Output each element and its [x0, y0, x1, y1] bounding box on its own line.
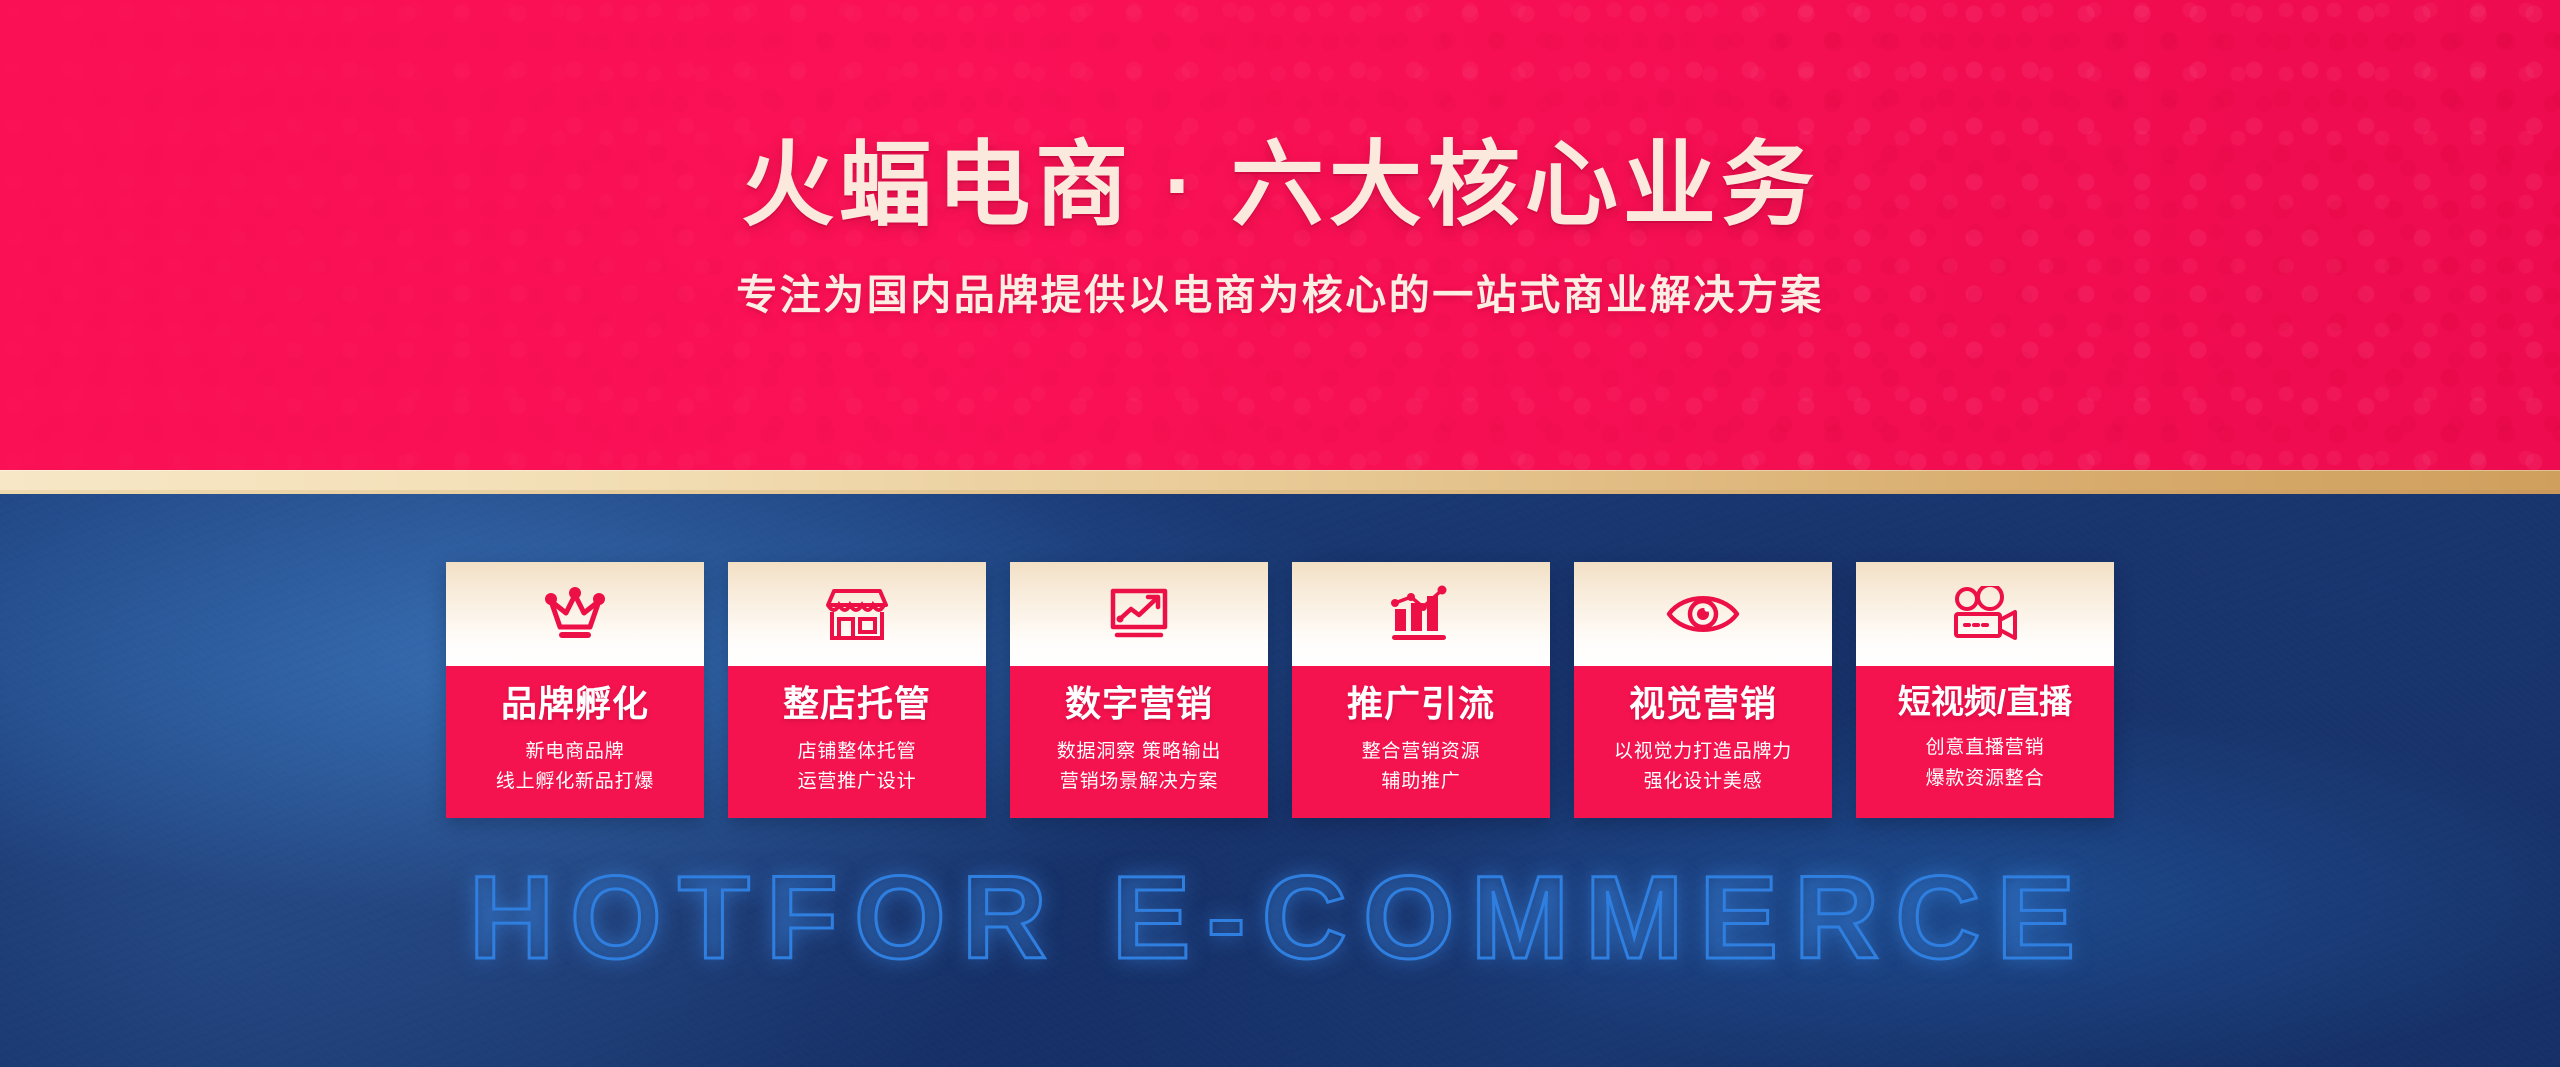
video-camera-icon	[1950, 586, 2020, 642]
card-desc-line: 以视觉力打造品牌力	[1614, 740, 1792, 764]
promo-banner: 火蝠电商 · 六大核心业务 专注为国内品牌提供以电商为核心的一站式商业解决方案 …	[0, 0, 2560, 1067]
card-desc-line: 店铺整体托管	[798, 740, 917, 764]
service-card-digital-marketing[interactable]: 数字营销 数据洞察 策略输出 营销场景解决方案	[1010, 562, 1268, 818]
card-desc-line: 营销场景解决方案	[1060, 770, 1218, 794]
service-card-visual-marketing[interactable]: 视觉营销 以视觉力打造品牌力 强化设计美感	[1574, 562, 1832, 818]
card-desc-line: 线上孵化新品打爆	[496, 770, 654, 794]
service-card-traffic-promotion[interactable]: 推广引流 整合营销资源 辅助推广	[1292, 562, 1550, 818]
card-body: 整店托管 店铺整体托管 运营推广设计	[728, 666, 986, 818]
card-icon-header	[1010, 562, 1268, 666]
bar-chart-icon	[1390, 585, 1452, 643]
services-section: HOTFOR E-COMMERCE 品	[0, 494, 2560, 1067]
card-title: 整店托管	[783, 684, 931, 724]
gold-divider	[0, 470, 2560, 494]
card-title: 推广引流	[1347, 684, 1495, 724]
service-card-list: 品牌孵化 新电商品牌 线上孵化新品打爆	[0, 562, 2560, 818]
card-description: 以视觉力打造品牌力 强化设计美感	[1614, 740, 1792, 795]
card-icon-header	[446, 562, 704, 666]
card-desc-line: 爆款资源整合	[1926, 767, 2045, 791]
hero-section: 火蝠电商 · 六大核心业务 专注为国内品牌提供以电商为核心的一站式商业解决方案	[0, 0, 2560, 470]
hero-text-block: 火蝠电商 · 六大核心业务 专注为国内品牌提供以电商为核心的一站式商业解决方案	[0, 0, 2560, 470]
crown-icon	[544, 587, 606, 641]
card-desc-line: 运营推广设计	[798, 770, 917, 794]
card-desc-line: 创意直播营销	[1926, 736, 2045, 760]
card-description: 整合营销资源 辅助推广	[1362, 740, 1481, 795]
card-body: 视觉营销 以视觉力打造品牌力 强化设计美感	[1574, 666, 1832, 818]
card-desc-line: 辅助推广	[1381, 770, 1460, 794]
card-description: 创意直播营销 爆款资源整合	[1926, 736, 2045, 791]
storefront-icon	[826, 585, 888, 643]
card-desc-line: 新电商品牌	[525, 740, 624, 764]
card-body: 品牌孵化 新电商品牌 线上孵化新品打爆	[446, 666, 704, 818]
page-subtitle: 专注为国内品牌提供以电商为核心的一站式商业解决方案	[736, 261, 1824, 321]
trending-chart-icon	[1107, 585, 1171, 643]
card-icon-header	[1574, 562, 1832, 666]
card-title: 数字营销	[1065, 684, 1213, 724]
card-description: 店铺整体托管 运营推广设计	[798, 740, 917, 795]
service-card-brand-incubation[interactable]: 品牌孵化 新电商品牌 线上孵化新品打爆	[446, 562, 704, 818]
page-title: 火蝠电商 · 六大核心业务	[741, 135, 1819, 235]
card-icon-header	[1292, 562, 1550, 666]
card-title: 短视频/直播	[1898, 684, 2072, 720]
eye-icon	[1666, 589, 1740, 639]
service-card-store-management[interactable]: 整店托管 店铺整体托管 运营推广设计	[728, 562, 986, 818]
card-title: 品牌孵化	[501, 684, 649, 724]
brand-watermark: HOTFOR E-COMMERCE	[0, 850, 2560, 986]
card-body: 短视频/直播 创意直播营销 爆款资源整合	[1856, 666, 2114, 818]
card-description: 新电商品牌 线上孵化新品打爆	[496, 740, 654, 795]
card-icon-header	[728, 562, 986, 666]
card-description: 数据洞察 策略输出 营销场景解决方案	[1057, 740, 1221, 795]
card-desc-line: 强化设计美感	[1644, 770, 1763, 794]
card-desc-line: 数据洞察 策略输出	[1057, 740, 1221, 764]
card-title: 视觉营销	[1629, 684, 1777, 724]
card-desc-line: 整合营销资源	[1362, 740, 1481, 764]
service-card-short-video-live[interactable]: 短视频/直播 创意直播营销 爆款资源整合	[1856, 562, 2114, 818]
card-body: 推广引流 整合营销资源 辅助推广	[1292, 666, 1550, 818]
card-body: 数字营销 数据洞察 策略输出 营销场景解决方案	[1010, 666, 1268, 818]
card-icon-header	[1856, 562, 2114, 666]
